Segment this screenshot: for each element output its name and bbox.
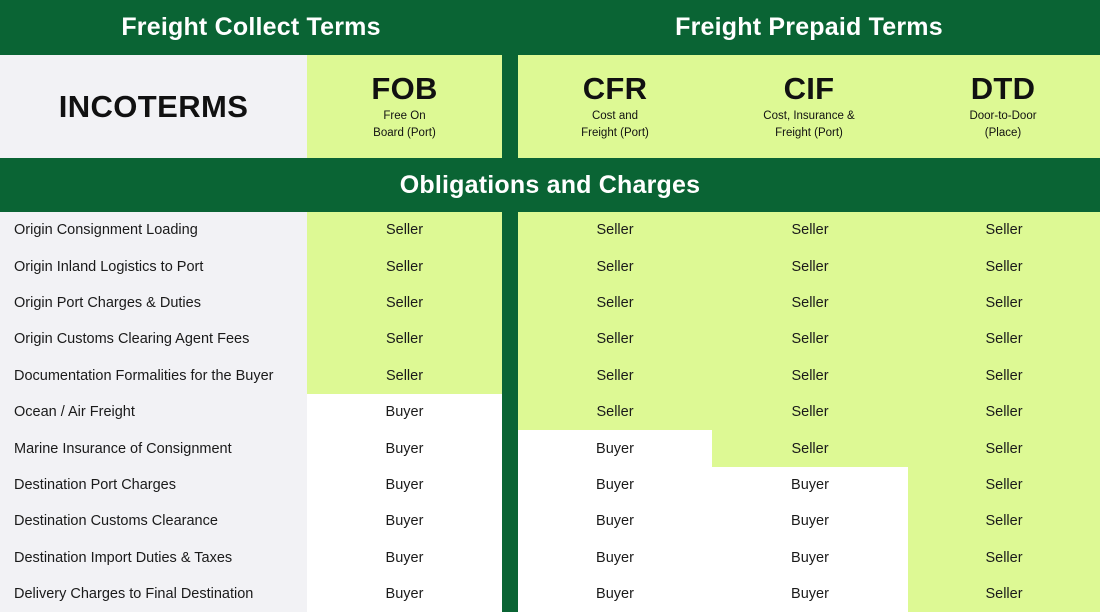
table-cell-cfr-seller: Seller [518,212,712,248]
banner-freight-collect-label: Freight Collect Terms [121,13,380,42]
table-cell-cif-seller: Seller [712,248,908,284]
table-cell-cfr-seller: Seller [518,394,712,430]
table-cell-fob-seller: Seller [307,358,502,394]
header-code-fob: FOB [371,73,437,105]
incoterms-comparison-table: Freight Collect Terms Freight Prepaid Te… [0,0,1100,612]
banner-freight-prepaid: Freight Prepaid Terms [518,0,1100,55]
table-row-label: Origin Port Charges & Duties [0,285,307,321]
table-cell-dtd-seller: Seller [908,467,1100,503]
table-row-label: Documentation Formalities for the Buyer [0,358,307,394]
value-list-fob: SellerSellerSellerSellerSellerBuyerBuyer… [307,212,502,612]
table-cell-fob-buyer: Buyer [307,503,502,539]
section-band-obligations: Obligations and Charges [0,158,1100,212]
header-sub-fob-line1: Free On [383,109,425,123]
table-cell-fob-buyer: Buyer [307,394,502,430]
column-divider [502,212,518,612]
page-title: INCOTERMS [59,89,249,125]
table-row-label: Destination Customs Clearance [0,503,307,539]
table-row-label: Delivery Charges to Final Destination [0,576,307,612]
table-cell-dtd-seller: Seller [908,540,1100,576]
table-cell-cfr-seller: Seller [518,358,712,394]
column-fob: SellerSellerSellerSellerSellerBuyerBuyer… [307,212,502,612]
header-cell-cfr: CFR Cost and Freight (Port) [518,55,712,158]
table-row-label: Marine Insurance of Consignment [0,430,307,466]
table-cell-cif-seller: Seller [712,212,908,248]
value-list-cif: SellerSellerSellerSellerSellerSellerSell… [712,212,908,612]
header-column-fob: FOB Free On Board (Port) [307,55,502,158]
table-row-label: Origin Consignment Loading [0,212,307,248]
table-cell-fob-buyer: Buyer [307,430,502,466]
row-label-list: Origin Consignment LoadingOrigin Inland … [0,212,307,612]
table-cell-cif-seller: Seller [712,321,908,357]
table-cell-cif-seller: Seller [712,394,908,430]
header-code-cfr: CFR [583,73,648,105]
header-code-dtd: DTD [971,73,1036,105]
table-cell-cif-buyer: Buyer [712,467,908,503]
table-row-label: Destination Port Charges [0,467,307,503]
table-body: Origin Consignment LoadingOrigin Inland … [0,212,1100,612]
header-sub-dtd-line2: (Place) [985,126,1021,140]
table-cell-cfr-seller: Seller [518,285,712,321]
table-cell-dtd-seller: Seller [908,358,1100,394]
table-cell-fob-seller: Seller [307,212,502,248]
header-cell-dtd: DTD Door-to-Door (Place) [906,55,1100,158]
table-cell-cif-seller: Seller [712,358,908,394]
table-cell-cfr-buyer: Buyer [518,430,712,466]
header-sub-fob-line2: Board (Port) [373,126,436,140]
banner-freight-collect: Freight Collect Terms [0,0,502,55]
value-list-cfr: SellerSellerSellerSellerSellerSellerBuye… [518,212,712,612]
header-code-cif: CIF [784,73,835,105]
table-cell-cfr-buyer: Buyer [518,467,712,503]
table-row-label: Origin Inland Logistics to Port [0,248,307,284]
table-row-label: Destination Import Duties & Taxes [0,540,307,576]
header-sub-cif-line2: Freight (Port) [775,126,843,140]
table-row-label: Origin Customs Clearing Agent Fees [0,321,307,357]
table-cell-cif-buyer: Buyer [712,503,908,539]
header-sub-cfr-line1: Cost and [592,109,638,123]
value-list-dtd: SellerSellerSellerSellerSellerSellerSell… [908,212,1100,612]
table-cell-dtd-seller: Seller [908,394,1100,430]
table-cell-dtd-seller: Seller [908,503,1100,539]
table-cell-fob-seller: Seller [307,321,502,357]
header-incoterms-cell: INCOTERMS [0,55,307,158]
table-cell-cif-seller: Seller [712,285,908,321]
header-sub-dtd-line1: Door-to-Door [969,109,1036,123]
column-dtd: SellerSellerSellerSellerSellerSellerSell… [908,212,1100,612]
table-cell-dtd-seller: Seller [908,576,1100,612]
table-cell-cfr-buyer: Buyer [518,576,712,612]
table-cell-dtd-seller: Seller [908,285,1100,321]
column-row-labels: Origin Consignment LoadingOrigin Inland … [0,212,307,612]
table-cell-cif-seller: Seller [712,430,908,466]
table-cell-cfr-buyer: Buyer [518,503,712,539]
table-cell-cif-buyer: Buyer [712,576,908,612]
header-sub-cif-line1: Cost, Insurance & [763,109,854,123]
header-prepaid-columns: CFR Cost and Freight (Port) CIF Cost, In… [518,55,1100,158]
header-cell-fob: FOB Free On Board (Port) [307,55,502,158]
header-sub-cfr-line2: Freight (Port) [581,126,649,140]
table-cell-fob-seller: Seller [307,248,502,284]
table-cell-dtd-seller: Seller [908,248,1100,284]
table-cell-fob-buyer: Buyer [307,467,502,503]
table-cell-cfr-seller: Seller [518,321,712,357]
banner-freight-prepaid-label: Freight Prepaid Terms [675,13,943,42]
table-row-label: Ocean / Air Freight [0,394,307,430]
table-cell-cfr-seller: Seller [518,248,712,284]
column-cfr: SellerSellerSellerSellerSellerSellerBuye… [518,212,712,612]
table-cell-fob-seller: Seller [307,285,502,321]
table-cell-cif-buyer: Buyer [712,540,908,576]
section-band-title: Obligations and Charges [400,171,700,200]
header-cell-cif: CIF Cost, Insurance & Freight (Port) [712,55,906,158]
table-cell-dtd-seller: Seller [908,430,1100,466]
table-cell-dtd-seller: Seller [908,212,1100,248]
table-cell-fob-buyer: Buyer [307,576,502,612]
table-cell-dtd-seller: Seller [908,321,1100,357]
table-cell-cfr-buyer: Buyer [518,540,712,576]
table-cell-fob-buyer: Buyer [307,540,502,576]
column-cif: SellerSellerSellerSellerSellerSellerSell… [712,212,908,612]
